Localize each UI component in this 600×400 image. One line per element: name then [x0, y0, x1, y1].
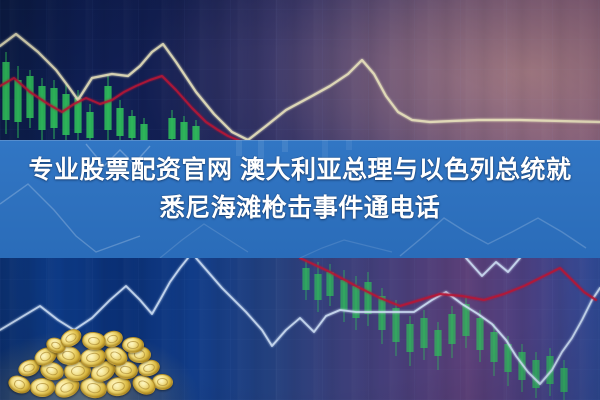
gold-coin-pile [4, 328, 172, 400]
headline-band: 专业股票配资官网 澳大利亚总理与以色列总统就 悉尼海滩枪击事件通电话 [0, 140, 600, 258]
banner-image: 专业股票配资官网 澳大利亚总理与以色列总统就 悉尼海滩枪击事件通电话 [0, 0, 600, 400]
headline-line-1: 专业股票配资官网 澳大利亚总理与以色列总统就 [29, 156, 572, 184]
headline-line-2: 悉尼海滩枪击事件通电话 [0, 189, 600, 227]
gold-coin [30, 378, 55, 397]
headline: 专业股票配资官网 澳大利亚总理与以色列总统就 悉尼海滩枪击事件通电话 [0, 140, 600, 227]
gold-coin [81, 331, 107, 352]
